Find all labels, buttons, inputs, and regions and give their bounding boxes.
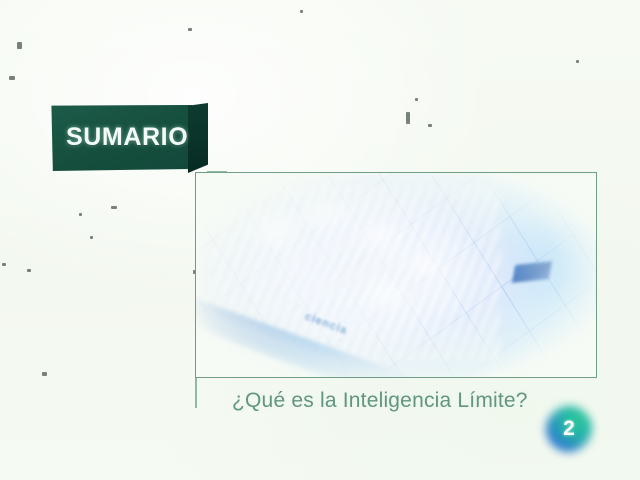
sumario-banner-label: SUMARIO xyxy=(66,123,186,151)
broadcast-screen: ciencia SUMARIO ¿Qué es la Inteligencia … xyxy=(0,0,640,480)
noise-speck xyxy=(17,42,22,49)
photo-accent-chip xyxy=(512,261,552,283)
noise-speck xyxy=(42,372,47,376)
noise-speck xyxy=(576,60,579,63)
sumario-banner-bevel xyxy=(188,103,208,173)
noise-speck xyxy=(300,10,303,13)
noise-speck xyxy=(2,263,6,266)
sumario-banner: SUMARIO xyxy=(50,103,208,175)
brain-illustration: ciencia xyxy=(196,173,596,377)
image-frame: ciencia xyxy=(195,172,597,378)
noise-speck xyxy=(188,28,192,31)
noise-speck xyxy=(27,269,31,272)
noise-speck xyxy=(9,76,15,80)
noise-speck xyxy=(428,124,432,127)
noise-speck xyxy=(415,98,418,101)
channel-logo-digit: 2 xyxy=(546,406,592,452)
segment-caption: ¿Qué es la Inteligencia Límite? xyxy=(232,389,528,413)
noise-speck xyxy=(406,112,410,124)
channel-logo-bug: 2 xyxy=(546,406,592,452)
noise-speck xyxy=(111,206,117,209)
frame-tick-left xyxy=(195,378,197,408)
noise-speck xyxy=(79,213,82,216)
noise-speck xyxy=(90,236,93,239)
